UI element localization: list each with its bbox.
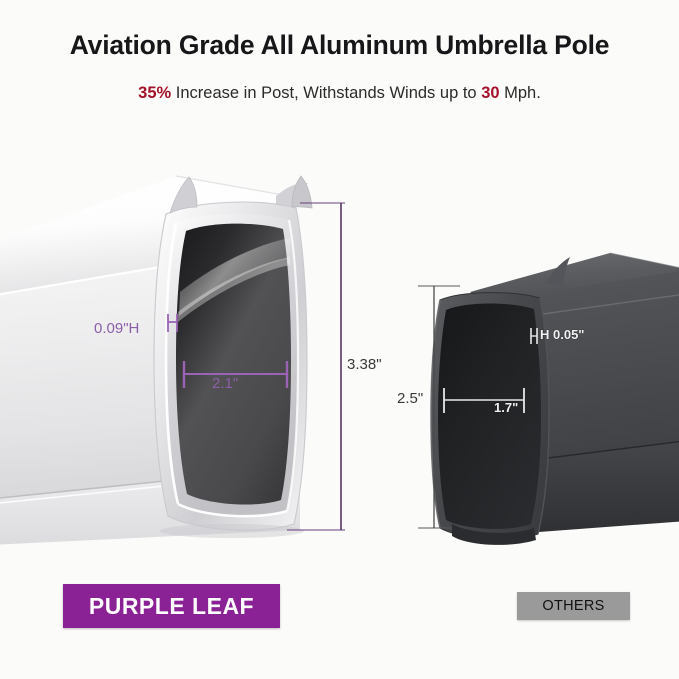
dim-label-left-thickness: 0.09"H [94, 320, 139, 337]
dim-label-right-height: 2.5" [397, 390, 423, 407]
pole-base-shadow [160, 524, 304, 538]
others-pole [418, 253, 679, 545]
badge-purple-leaf: PURPLE LEAF [63, 584, 280, 628]
others-cavity [438, 303, 541, 528]
dim-label-left-width: 2.1" [212, 375, 238, 392]
badge-others-label: OTHERS [542, 598, 604, 614]
dim-label-left-height: 3.38" [347, 356, 382, 373]
product-comparison-infographic: Aviation Grade All Aluminum Umbrella Pol… [0, 0, 679, 679]
dim-label-right-width: 1.7" [494, 400, 518, 415]
purple-leaf-pole [0, 176, 345, 545]
dim-label-right-thickness: H 0.05" [540, 327, 584, 342]
badge-others: OTHERS [517, 592, 630, 620]
badge-purple-leaf-label: PURPLE LEAF [89, 593, 254, 620]
